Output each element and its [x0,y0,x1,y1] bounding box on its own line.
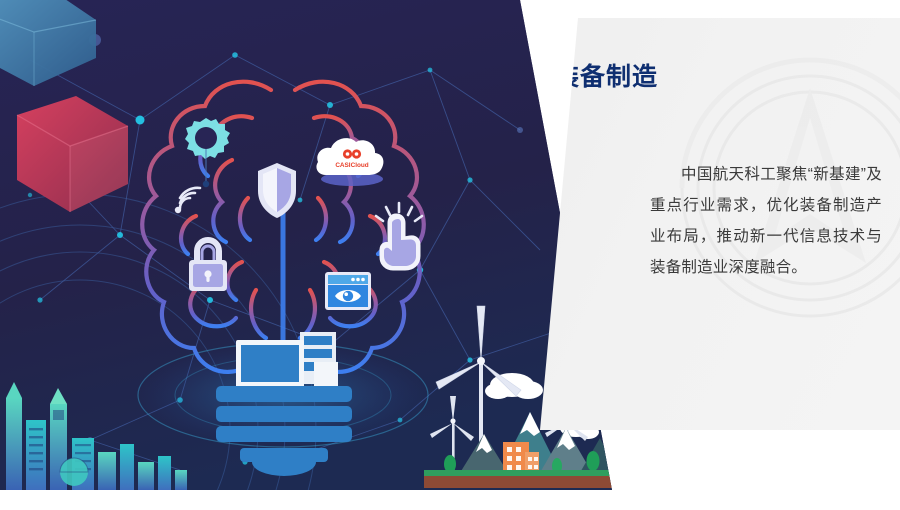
text-panel: 装备制造 中国航天科工聚焦“新基建”及重点行业需求，优化装备制造产业布局，推动新… [540,18,900,430]
monitor-screen [241,345,299,382]
illustration-graphic: CASICloud [0,0,612,490]
casic-cloud-label: CASICloud [335,162,368,169]
server-layer [216,406,352,422]
eye-browser-icon [325,272,371,310]
slide-canvas: CASICloud [0,0,900,510]
body-paragraph: 中国航天科工聚焦“新基建”及重点行业需求，优化装备制造产业布局，推动新一代信息技… [650,159,882,283]
server-layer [216,426,352,442]
illustration-panel: CASICloud [0,0,612,490]
page-title: 装备制造 [554,57,658,93]
ground-strip [424,476,612,488]
paper-sheet [314,362,338,390]
server-layer [240,448,328,462]
server-layer [216,386,352,402]
